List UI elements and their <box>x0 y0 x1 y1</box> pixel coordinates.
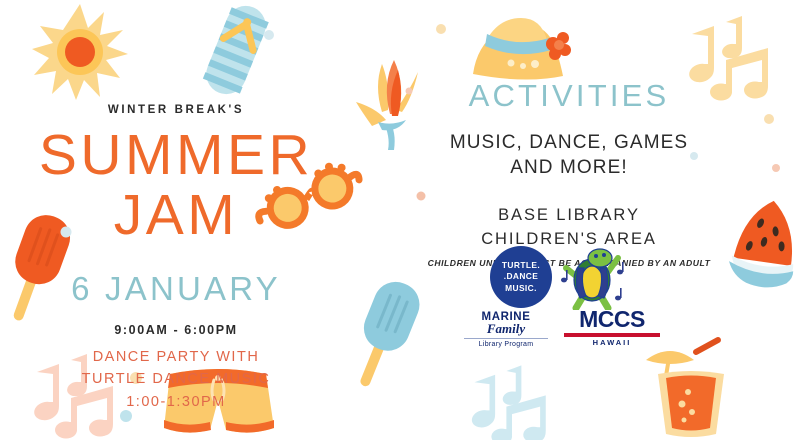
activities-line-1: MUSIC, DANCE, GAMES <box>450 132 688 153</box>
marine-family-script-label: Family <box>460 322 552 335</box>
party-line-2: TURTLE DANCE MUSIC <box>82 371 271 387</box>
venue-line-1: BASE LIBRARY <box>498 206 640 224</box>
event-date: 6 JANUARY <box>0 270 352 308</box>
music-notes-blue-icon <box>462 356 562 440</box>
title-line-2: JAM <box>0 188 352 244</box>
activities-heading: ACTIVITIES <box>404 78 734 114</box>
turtle-dance-music-label: TURTLE. .DANCE MUSIC. <box>502 260 540 293</box>
dot-decoration <box>770 162 782 174</box>
marine-family-sub-label: Library Program <box>460 341 552 348</box>
activities-list: MUSIC, DANCE, GAMES AND MORE! <box>404 130 734 180</box>
party-line-3: 1:00-1:30PM <box>126 394 226 410</box>
dance-party-details: DANCE PARTY WITH TURTLE DANCE MUSIC 1:00… <box>0 346 352 413</box>
left-content-block: WINTER BREAK'S SUMMER JAM 6 JANUARY 9:00… <box>0 104 352 413</box>
sun-hat-icon <box>455 0 575 82</box>
dot-decoration <box>762 112 776 126</box>
turtle-mascot-icon <box>558 246 632 310</box>
party-line-1: DANCE PARTY WITH <box>93 349 260 365</box>
logo-group: TURTLE. .DANCE MUSIC. <box>404 246 734 356</box>
venue-info: BASE LIBRARY CHILDREN'S AREA <box>404 204 734 251</box>
mccs-wordmark: MCCS <box>562 308 662 331</box>
marine-family-logo: MARINE Family Library Program <box>460 312 552 348</box>
right-content-block: ACTIVITIES MUSIC, DANCE, GAMES AND MORE!… <box>404 78 734 268</box>
activities-line-2: AND MORE! <box>510 157 628 178</box>
mccs-hawaii-logo: MCCS HAWAII <box>562 308 662 347</box>
flip-flop-icon <box>198 0 274 100</box>
logo-divider <box>464 338 548 339</box>
watermelon-slice-icon <box>728 196 800 288</box>
dot-decoration <box>262 28 276 42</box>
page-title: SUMMER JAM <box>0 128 352 244</box>
dot-decoration <box>434 22 448 36</box>
venue-line-2: CHILDREN'S AREA <box>481 230 657 248</box>
mccs-location-label: HAWAII <box>562 338 662 347</box>
turtle-dance-music-logo: TURTLE. .DANCE MUSIC. <box>490 246 552 308</box>
event-hours: 9:00AM - 6:00PM <box>0 323 352 337</box>
sun-icon <box>30 2 130 102</box>
summer-jam-flyer: WINTER BREAK'S SUMMER JAM 6 JANUARY 9:00… <box>0 0 800 440</box>
mccs-red-bar <box>564 333 660 337</box>
title-line-1: SUMMER <box>39 123 313 187</box>
kicker-text: WINTER BREAK'S <box>0 104 352 116</box>
